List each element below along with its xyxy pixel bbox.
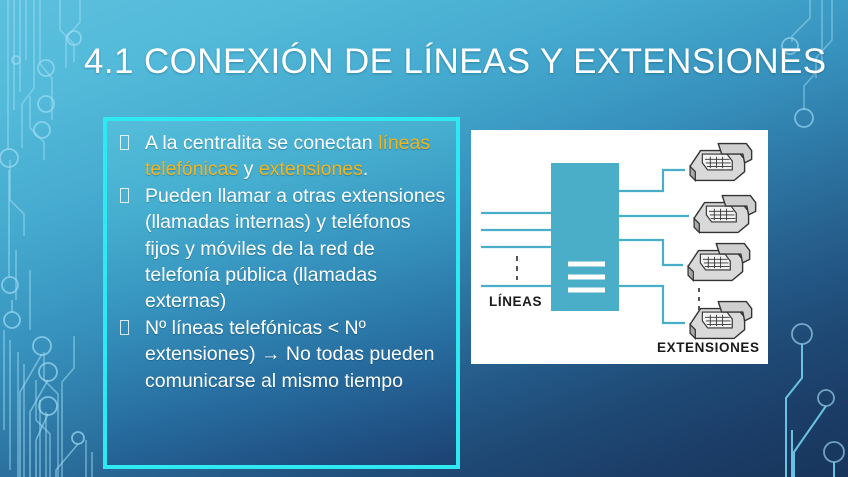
slide-canvas: 4.1 CONEXIÓN DE LÍNEAS Y EXTENSIONES A l… (0, 0, 848, 477)
bullet-glyph-icon (120, 320, 129, 335)
list-item: Nº líneas telefónicas < Nº extensiones) … (115, 315, 446, 394)
list-item: Pueden llamar a otras extensiones (llama… (115, 183, 446, 315)
bullet-list: A la centralita se conectan líneas telef… (115, 130, 446, 394)
bullet-text-2: Pueden llamar a otras extensiones (llama… (145, 185, 445, 313)
bullet-text-3: Nº líneas telefónicas < Nº extensiones) … (145, 317, 434, 392)
extensiones-label: EXTENSIONES (657, 340, 760, 355)
content-textbox: A la centralita se conectan líneas telef… (103, 117, 460, 469)
page-title: 4.1 CONEXIÓN DE LÍNEAS Y EXTENSIONES (84, 42, 784, 82)
list-item: A la centralita se conectan líneas telef… (115, 130, 446, 183)
bullet-glyph-icon (120, 188, 129, 203)
lineas-label: LÍNEAS (489, 294, 542, 309)
pbx-connection-diagram: LÍNEAS EXTENSIONES (471, 130, 768, 364)
bullet-text-1: A la centralita se conectan líneas telef… (145, 132, 430, 180)
bullet-glyph-icon (120, 135, 129, 150)
